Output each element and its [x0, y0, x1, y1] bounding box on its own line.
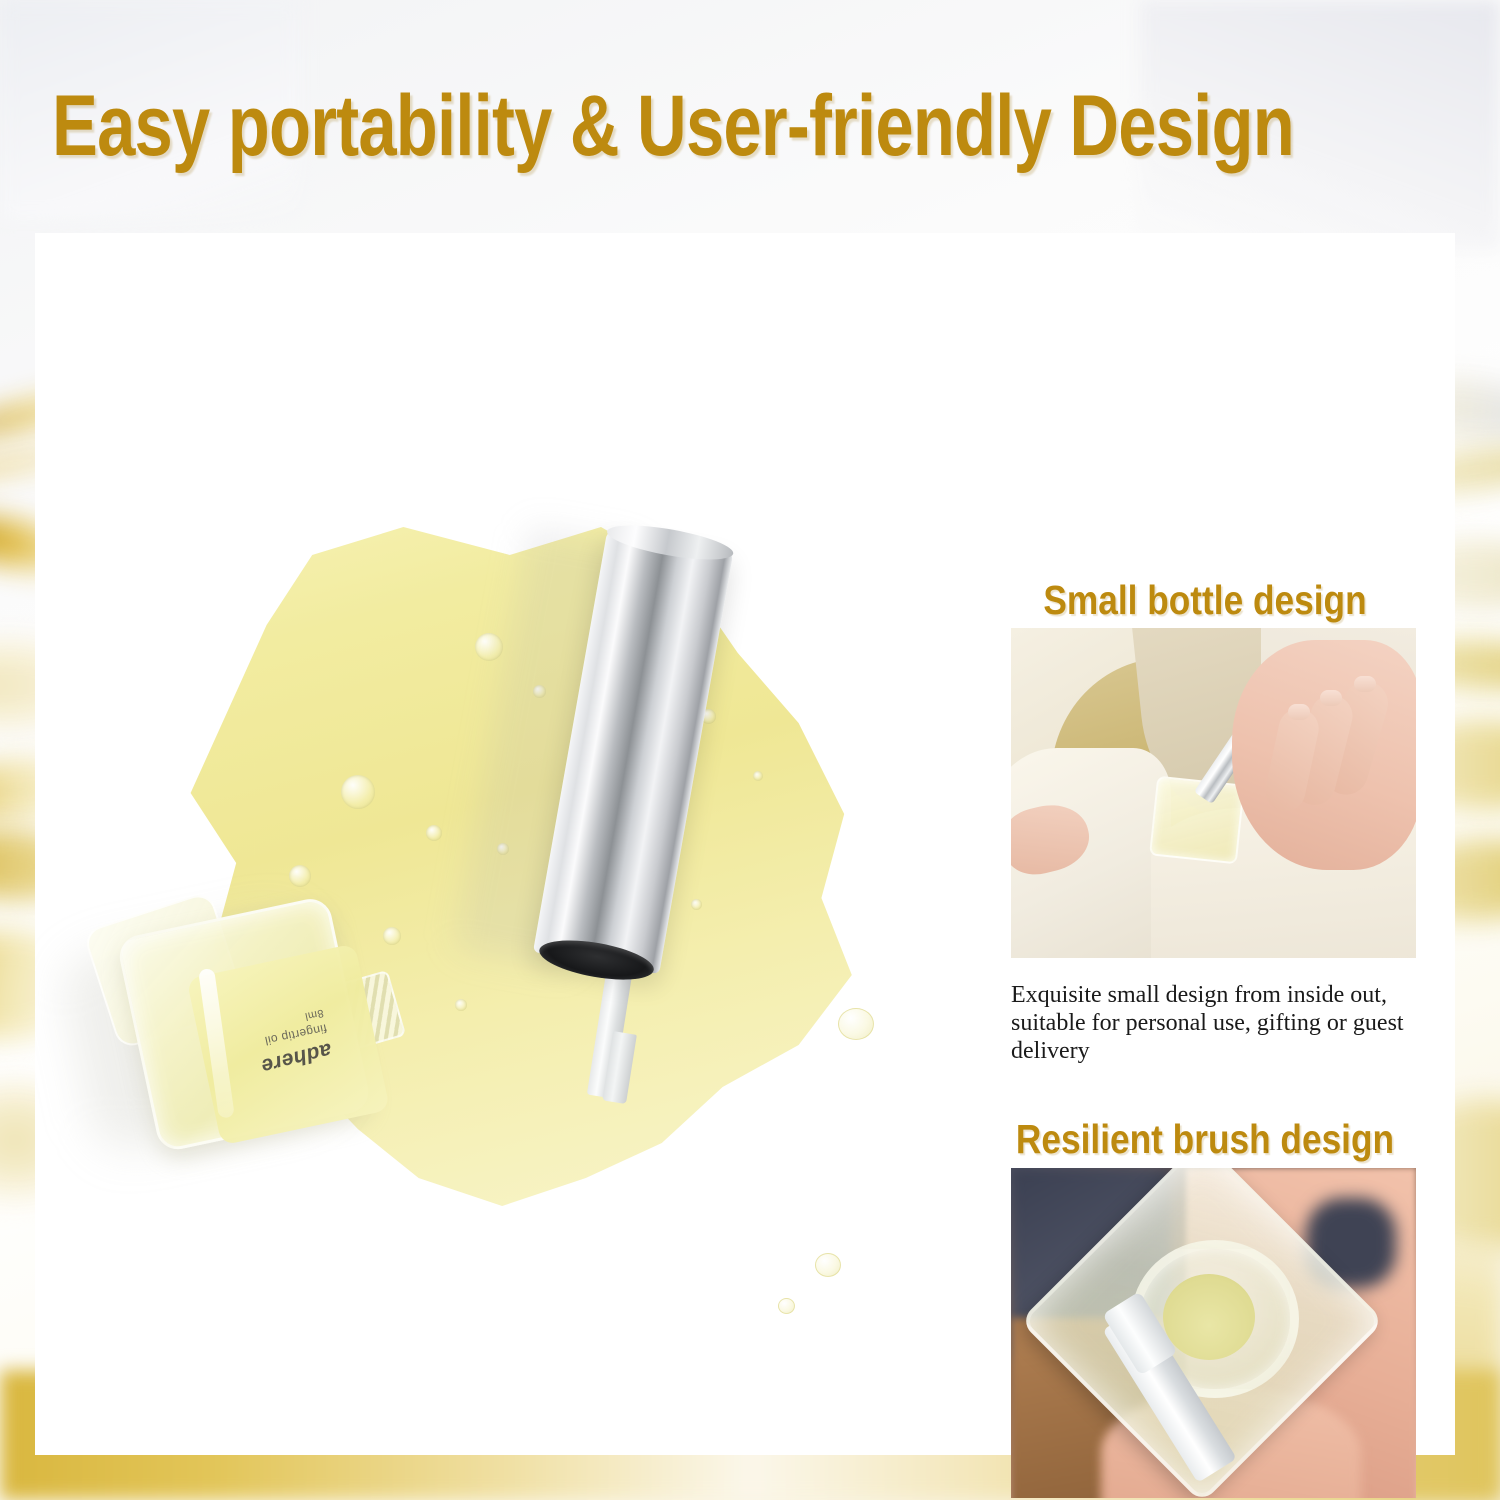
product-bottle: adhere fingertip oil 8ml [70, 863, 389, 1178]
feature-photo-small-bottle-design [1011, 628, 1416, 958]
oil-droplet [838, 1008, 874, 1040]
feature-column: Small bottle design [975, 233, 1455, 1455]
oil-bubble [341, 775, 375, 809]
fingernail [1354, 676, 1376, 692]
oil-bubble [475, 633, 503, 661]
fingernail [1288, 704, 1310, 720]
oil-droplet [815, 1253, 841, 1277]
product-infographic: Easy portability & User-friendly Design [0, 0, 1500, 1500]
feature-heading-resilient-brush-design: Resilient brush design [1007, 1117, 1403, 1161]
feature-caption-small-bottle-design: Exquisite small design from inside out, … [1011, 981, 1431, 1065]
oil-bubble [383, 927, 401, 945]
feature-heading-small-bottle-design: Small bottle design [1007, 578, 1403, 622]
page-title: Easy portability & User-friendly Design [52, 80, 1172, 172]
oil-bubble [455, 999, 467, 1011]
fingernail [1320, 690, 1342, 706]
oil-droplet [778, 1298, 795, 1314]
oil-bubble [691, 899, 702, 910]
hero-product-scene: adhere fingertip oil 8ml [35, 233, 975, 1455]
oil-bubble [753, 771, 763, 781]
oil-bubble [426, 825, 442, 841]
cap-top-surface [605, 519, 736, 567]
feature-photo-resilient-brush-design [1011, 1168, 1416, 1498]
content-card: adhere fingertip oil 8ml Small bottle de… [35, 233, 1455, 1455]
bottle-opening [1163, 1274, 1255, 1360]
